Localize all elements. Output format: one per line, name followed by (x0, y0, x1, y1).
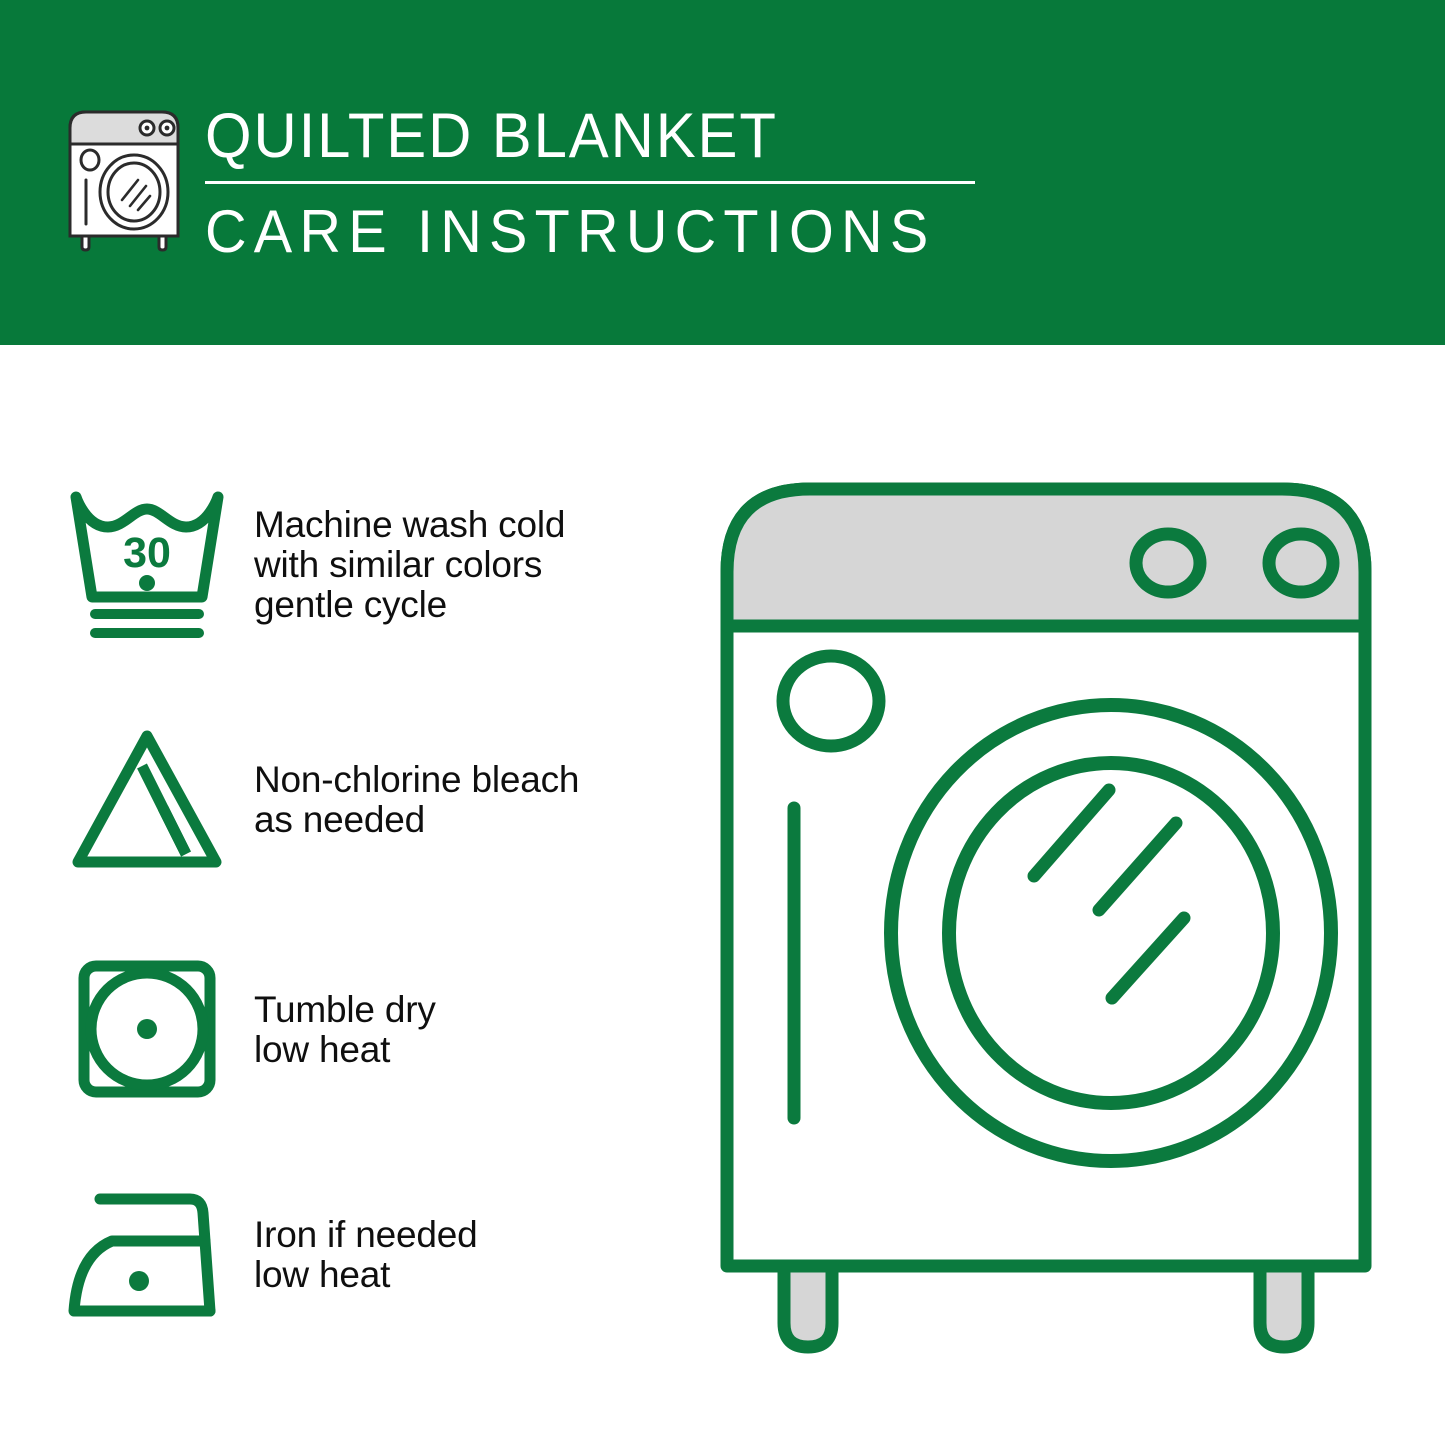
care-label-line: low heat (254, 1030, 436, 1070)
washing-machine-icon (64, 104, 184, 252)
care-instruction-list: 30 Machine wash cold with similar colors… (0, 345, 700, 1445)
page-title-primary: QUILTED BLANKET (205, 100, 956, 172)
washing-machine-illustration (716, 478, 1376, 1358)
header-titles: QUILTED BLANKET CARE INSTRUCTIONS (205, 100, 995, 266)
header-band: QUILTED BLANKET CARE INSTRUCTIONS (0, 0, 1445, 345)
care-row-bleach: Non-chlorine bleach as needed (0, 720, 700, 880)
care-label-bleach: Non-chlorine bleach as needed (254, 760, 579, 840)
wash-tub-30-icon: 30 (62, 485, 232, 645)
care-label-iron: Iron if needed low heat (254, 1215, 477, 1295)
page-title-secondary: CARE INSTRUCTIONS (205, 198, 963, 266)
care-label-line: Iron if needed (254, 1215, 477, 1255)
care-instructions-page: QUILTED BLANKET CARE INSTRUCTIONS 30 (0, 0, 1445, 1445)
care-label-line: gentle cycle (254, 585, 565, 625)
bleach-triangle-icon (62, 720, 232, 880)
care-label-line: Machine wash cold (254, 505, 565, 545)
care-label-line: low heat (254, 1255, 477, 1295)
care-label-tumble-dry: Tumble dry low heat (254, 990, 436, 1070)
tumble-dry-icon (62, 950, 232, 1110)
care-row-tumble-dry: Tumble dry low heat (0, 950, 700, 1110)
iron-icon (62, 1175, 232, 1335)
care-label-line: Tumble dry (254, 990, 436, 1030)
wash-temp-label: 30 (123, 529, 171, 577)
title-divider (205, 181, 975, 184)
care-label-machine-wash: Machine wash cold with similar colors ge… (254, 505, 565, 625)
care-row-iron: Iron if needed low heat (0, 1175, 700, 1335)
care-row-machine-wash: 30 Machine wash cold with similar colors… (0, 485, 700, 645)
care-label-line: with similar colors (254, 545, 565, 585)
care-label-line: as needed (254, 800, 579, 840)
care-label-line: Non-chlorine bleach (254, 760, 579, 800)
